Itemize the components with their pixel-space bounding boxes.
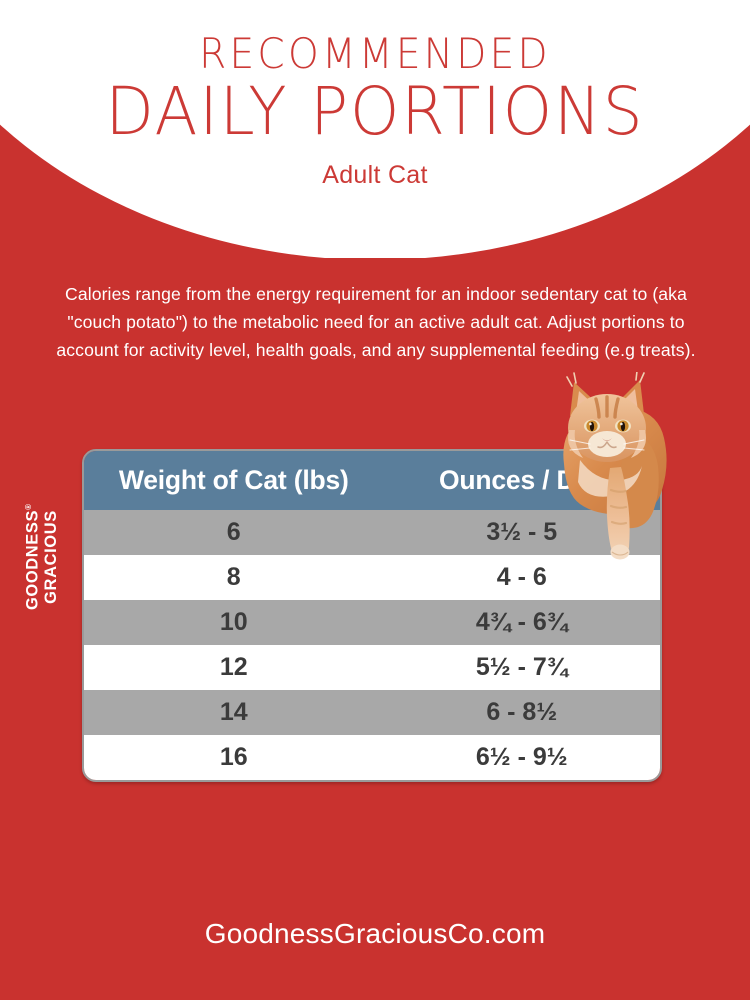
table-row: 10 4¾ - 6¾ [84,600,660,645]
table-row: 14 6 - 8½ [84,690,660,735]
column-header-ounces: Ounces / Day [384,465,660,496]
cell-weight: 10 [84,608,384,637]
table-row: 12 5½ - 7¾ [84,645,660,690]
page-title-line2: DAILY PORTIONS [19,76,732,145]
column-header-weight: Weight of Cat (lbs) [84,465,384,496]
cell-ounces: 3½ - 5 [384,518,660,547]
cell-weight: 8 [84,563,384,592]
cell-ounces: 6 - 8½ [384,698,660,727]
page-subtitle: Adult Cat [0,145,750,190]
cell-weight: 6 [84,518,384,547]
cell-ounces: 6½ - 9½ [384,743,660,772]
header-text-block: RECOMMENDED DAILY PORTIONS Adult Cat [0,0,750,190]
cell-weight: 14 [84,698,384,727]
side-brand-line1: GOODNESS® [19,504,43,610]
side-brand-line1-text: GOODNESS [23,510,41,610]
side-brand-vertical-text: GOODNESS® GRACIOUS [10,442,70,672]
cell-weight: 16 [84,743,384,772]
footer-website-url: GoodnessGraciousCo.com [0,918,750,950]
portion-table: Weight of Cat (lbs) Ounces / Day 6 3½ - … [82,449,662,782]
table-row: 6 3½ - 5 [84,510,660,555]
intro-paragraph: Calories range from the energy requireme… [52,280,700,364]
side-brand-line2: GRACIOUS [42,510,61,604]
cell-ounces: 5½ - 7¾ [384,653,660,682]
cell-ounces: 4¾ - 6¾ [384,608,660,637]
registered-mark-icon: ® [24,504,33,510]
table-row: 8 4 - 6 [84,555,660,600]
cell-ounces: 4 - 6 [384,563,660,592]
cell-weight: 12 [84,653,384,682]
table-row: 16 6½ - 9½ [84,735,660,780]
table-header-row: Weight of Cat (lbs) Ounces / Day [84,451,660,510]
page-title-line1: RECOMMENDED [26,0,724,76]
infographic-page: { "colors": { "background_red": "#c9322f… [0,0,750,1000]
